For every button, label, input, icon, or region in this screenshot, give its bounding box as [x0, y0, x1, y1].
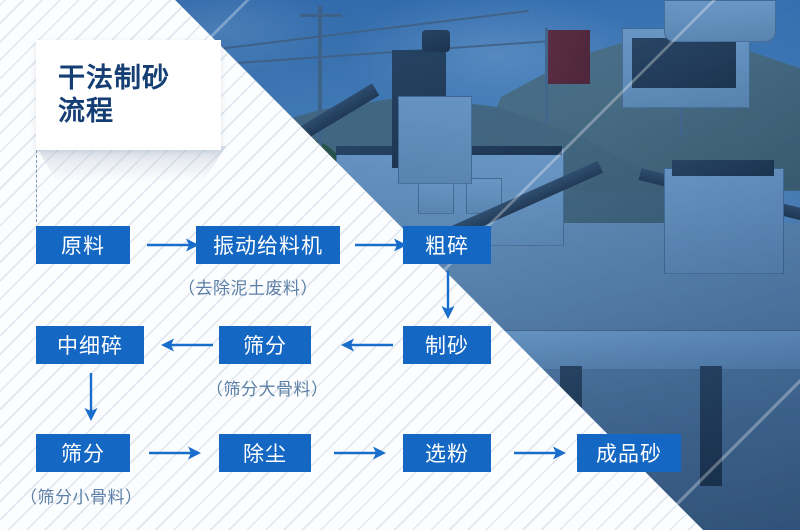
flow-node-3-1[interactable]: 筛分	[36, 434, 130, 472]
flow-caption-3: （筛分小骨料）	[20, 483, 143, 508]
flow-arrow-left-icon	[340, 337, 394, 353]
flow-node-1-2[interactable]: 振动给料机	[196, 226, 340, 264]
flow-node-3-2[interactable]: 除尘	[219, 434, 311, 472]
flow-node-2-2[interactable]: 筛分	[219, 326, 311, 364]
flow-arrow-left-icon	[160, 337, 214, 353]
flow-node-3-4[interactable]: 成品砂	[577, 434, 681, 472]
infographic-canvas: 干法制砂 流程 原料振动给料机粗碎（去除泥土废料）中细碎筛分制砂（筛分大骨料）筛…	[0, 0, 800, 530]
v-arrow-coarse-to-sand-icon	[440, 270, 456, 320]
flow-arrow-right-icon	[333, 445, 387, 461]
process-flow-diagram: 原料振动给料机粗碎（去除泥土废料）中细碎筛分制砂（筛分大骨料）筛分除尘选粉成品砂…	[0, 0, 800, 530]
flow-node-1-1[interactable]: 原料	[36, 226, 130, 264]
flow-node-3-3[interactable]: 选粉	[403, 434, 491, 472]
flow-node-1-3[interactable]: 粗碎	[403, 226, 491, 264]
flow-node-2-1[interactable]: 中细碎	[36, 326, 144, 364]
flow-node-2-3[interactable]: 制砂	[403, 326, 491, 364]
flow-arrow-right-icon	[354, 237, 408, 253]
flow-arrow-right-icon	[146, 237, 200, 253]
flow-arrow-right-icon	[148, 445, 202, 461]
flow-caption-1: （去除泥土废料）	[178, 274, 318, 299]
v-arrow-fine-to-screen-icon	[83, 372, 99, 422]
flow-caption-2: （筛分大骨料）	[206, 375, 329, 400]
flow-arrow-right-icon	[513, 445, 567, 461]
